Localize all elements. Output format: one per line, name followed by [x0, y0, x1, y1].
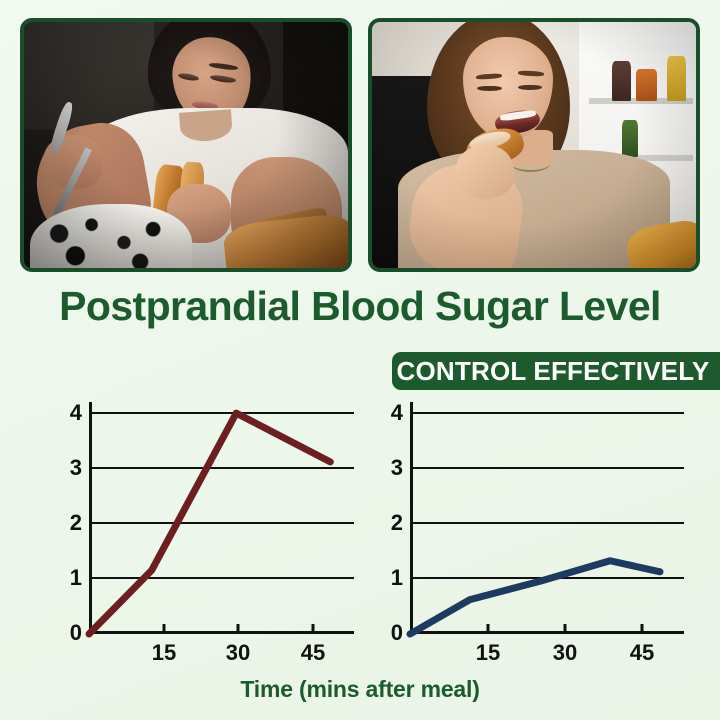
- status-badge: CONTROL EFFECTIVELY: [392, 352, 720, 390]
- chart-after: 4 3 2 1 0 15 30 45: [370, 392, 720, 652]
- chart-before-ytick-4: 4: [70, 402, 82, 424]
- chart-after-ytick-3: 3: [391, 457, 403, 479]
- x-axis-title: Time (mins after meal): [0, 676, 720, 703]
- chart-before: Blood Glucose (mN) 4 3 2 1 0 15 30 45: [0, 392, 370, 652]
- chart-after-plot: 4 3 2 1 0 15 30 45: [410, 412, 670, 634]
- chart-before-ytick-1: 1: [70, 567, 82, 589]
- photo-after-image: [372, 22, 696, 268]
- chart-after-ytick-2: 2: [391, 512, 403, 534]
- chart-before-ytick-3: 3: [70, 457, 82, 479]
- chart-after-xlabel-15: 15: [476, 642, 500, 664]
- chart-before-xlabel-45: 45: [301, 642, 325, 664]
- charts-container: Blood Glucose (mN) 4 3 2 1 0 15 30 45: [0, 392, 720, 652]
- chart-after-xlabel-45: 45: [630, 642, 654, 664]
- chart-before-plot: 4 3 2 1 0 15 30 45: [89, 412, 340, 634]
- chart-before-ytick-0: 0: [70, 622, 82, 644]
- chart-before-xlabel-15: 15: [152, 642, 176, 664]
- photo-before-image: [24, 22, 348, 268]
- chart-after-ytick-0: 0: [391, 622, 403, 644]
- chart-after-series: [410, 412, 670, 634]
- chart-after-ytick-1: 1: [391, 567, 403, 589]
- photo-before-vignette: [24, 22, 348, 268]
- status-badge-label: CONTROL EFFECTIVELY: [397, 356, 710, 387]
- poster-root: Postprandial Blood Sugar Level CONTROL E…: [0, 0, 720, 720]
- chart-before-series: [89, 412, 340, 634]
- chart-before-ytick-2: 2: [70, 512, 82, 534]
- photo-row: [20, 18, 700, 272]
- chart-before-xlabel-30: 30: [226, 642, 250, 664]
- photo-after-vignette: [372, 22, 696, 268]
- photo-before: [20, 18, 352, 272]
- chart-after-xlabel-30: 30: [553, 642, 577, 664]
- photo-after: [368, 18, 700, 272]
- page-title: Postprandial Blood Sugar Level: [0, 286, 720, 327]
- chart-after-ytick-4: 4: [391, 402, 403, 424]
